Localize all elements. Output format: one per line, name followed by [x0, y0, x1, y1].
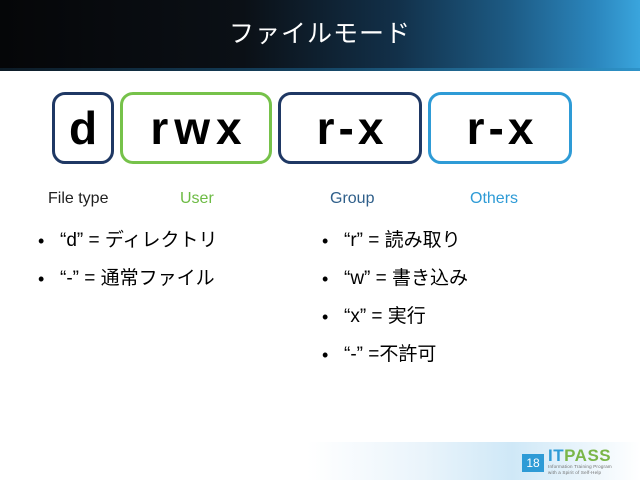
permission-text-others: r-x [428, 92, 572, 164]
permission-text-user: rwx [120, 92, 272, 164]
logo-it-text: IT [548, 446, 564, 465]
logo-tagline-line2: with a Spirit of Self-Help [548, 470, 632, 476]
list-item: “w” = 書き込み [318, 266, 618, 292]
permission-bullet-list: “r” = 読み取り “w” = 書き込み “x” = 実行 “-” =不許可 [318, 228, 618, 380]
header-divider [0, 68, 640, 71]
logo-pass-text: PASS [564, 446, 611, 465]
page-number-badge: 18 [522, 454, 544, 472]
logo-wordmark: ITPASS [548, 447, 632, 464]
slide-header-band: ファイルモード [0, 0, 640, 68]
list-item: “-” =不許可 [318, 342, 618, 368]
label-user: User [180, 190, 214, 208]
slide-footer-band: 18 ITPASS Information Training Program w… [0, 442, 640, 480]
list-item: “x” = 実行 [318, 304, 618, 330]
label-others: Others [470, 190, 518, 208]
list-item: “d” = ディレクトリ [34, 228, 304, 254]
list-item: “r” = 読み取り [318, 228, 618, 254]
permission-text-file-type: d [52, 92, 114, 164]
itpass-logo: ITPASS Information Training Program with… [548, 447, 632, 476]
label-group: Group [330, 190, 374, 208]
file-type-bullet-list: “d” = ディレクトリ “-” = 通常ファイル [34, 228, 304, 304]
slide-canvas: ファイルモード d rwx r-x r-x File type User Gro… [0, 0, 640, 480]
permission-text-group: r-x [278, 92, 422, 164]
label-file-type: File type [48, 190, 108, 208]
page-title: ファイルモード [0, 0, 640, 68]
list-item: “-” = 通常ファイル [34, 266, 304, 292]
